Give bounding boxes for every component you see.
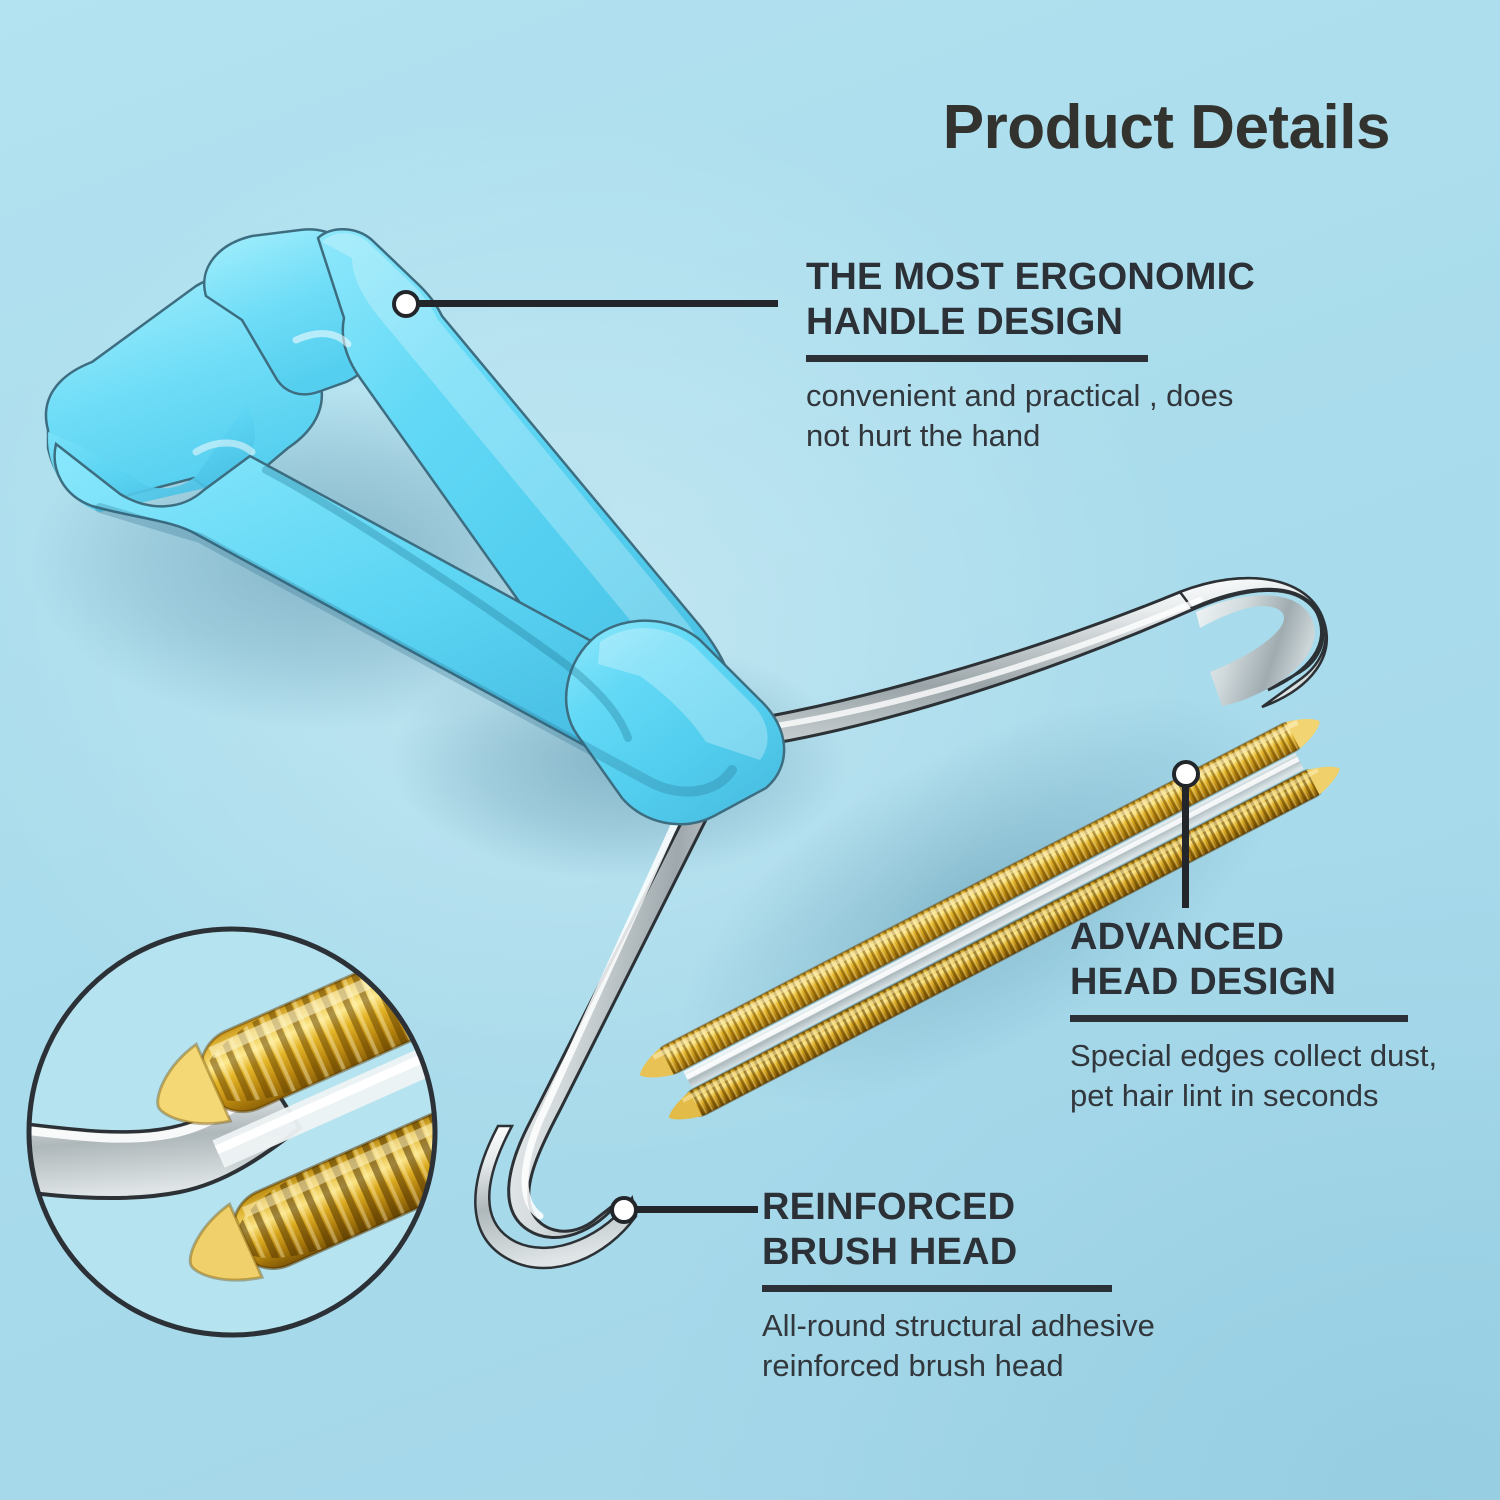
leader-line-ergonomic-handle [418,300,778,307]
callout-body-advanced-head: Special edges collect dust, pet hair lin… [1070,1036,1490,1117]
callout-body-reinforced-brush-head: All-round structural adhesive reinforced… [762,1306,1282,1387]
callout-ergonomic-handle: THE MOST ERGONOMIC HANDLE DESIGN conveni… [806,255,1406,456]
leader-line-reinforced-brush-head [636,1206,758,1213]
callout-advanced-head: ADVANCED HEAD DESIGN Special edges colle… [1070,915,1490,1116]
leader-dot-reinforced-brush-head [610,1196,638,1224]
callout-rule-reinforced-brush-head [762,1285,1112,1292]
callout-heading-advanced-head: ADVANCED HEAD DESIGN [1070,915,1490,1005]
page-title: Product Details [760,92,1390,163]
callout-heading-ergonomic-handle: THE MOST ERGONOMIC HANDLE DESIGN [806,255,1406,345]
infographic-canvas: Product Details THE MOST ERGONOMIC HANDL… [0,0,1500,1500]
leader-dot-ergonomic-handle [392,290,420,318]
callout-rule-advanced-head [1070,1015,1408,1022]
leader-dot-advanced-head [1172,760,1200,788]
callout-reinforced-brush-head: REINFORCED BRUSH HEAD All-round structur… [762,1185,1282,1386]
callout-heading-reinforced-brush-head: REINFORCED BRUSH HEAD [762,1185,1282,1275]
callout-rule-ergonomic-handle [806,355,1148,362]
callout-body-ergonomic-handle: convenient and practical , does not hurt… [806,376,1406,457]
leader-line-advanced-head [1182,786,1189,908]
